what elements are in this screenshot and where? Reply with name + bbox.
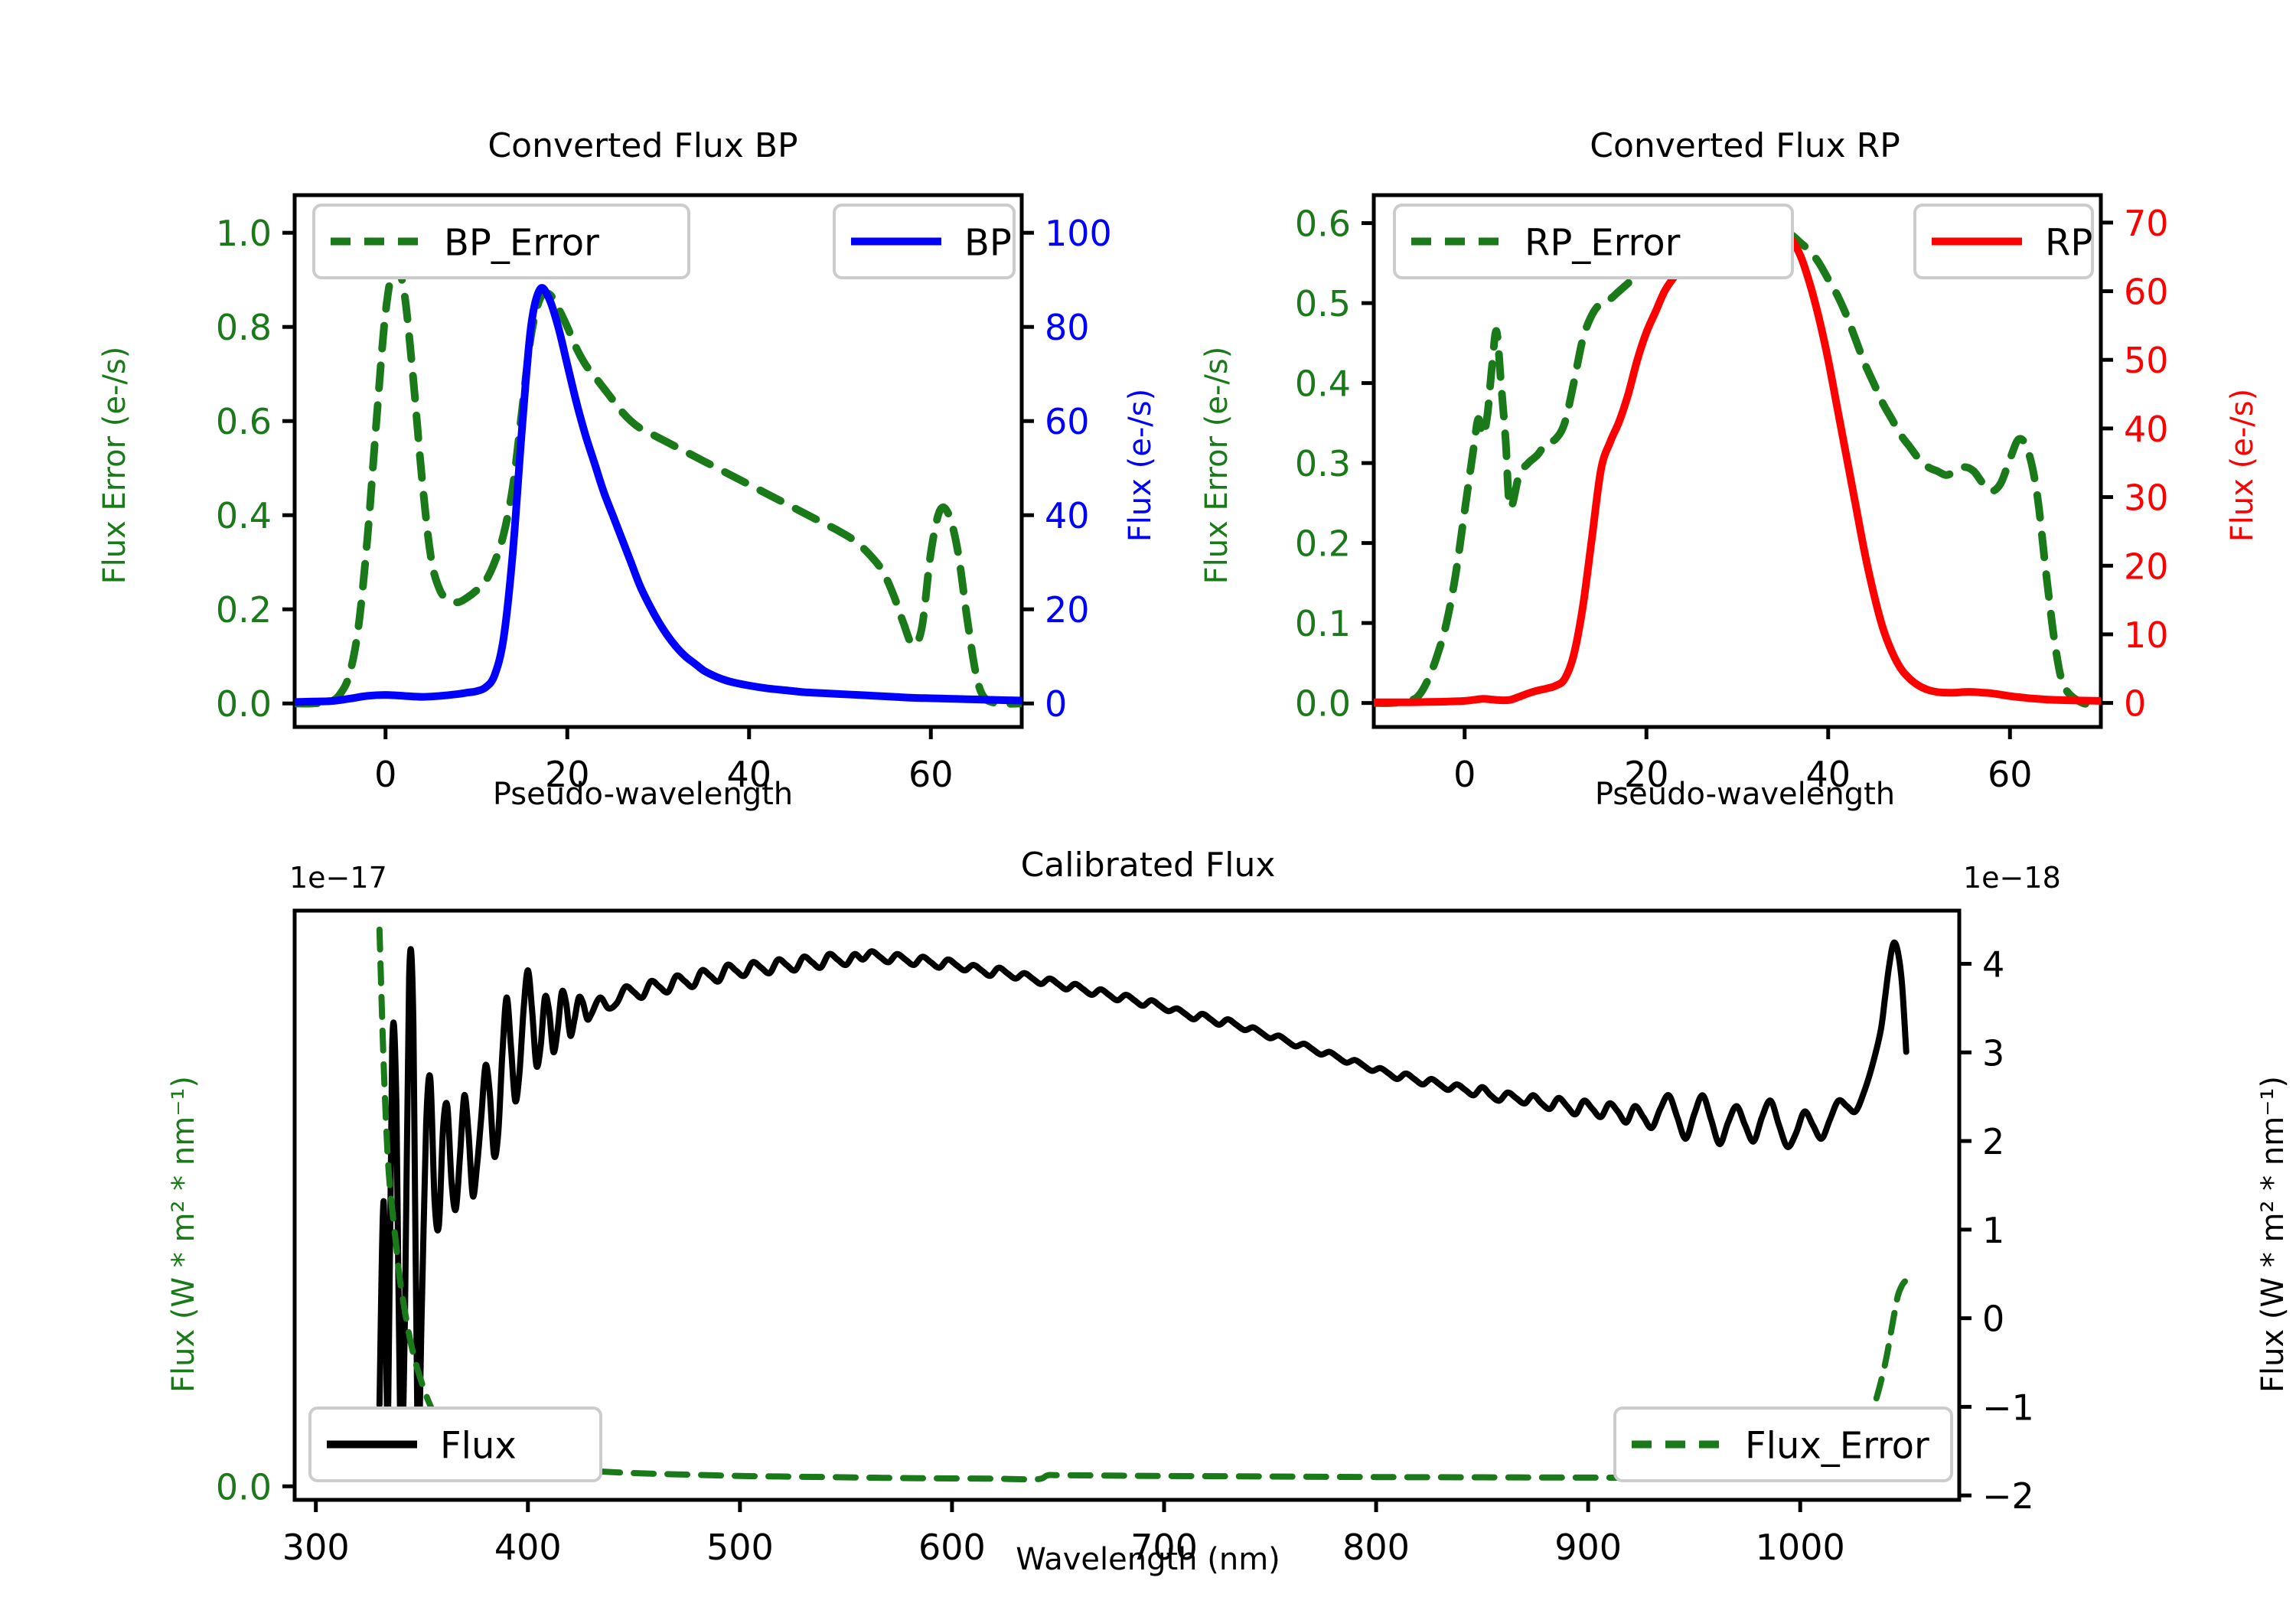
cal-legend-right[interactable]: Flux_Error bbox=[1615, 1408, 1952, 1481]
y-tick-label-right: 60 bbox=[2124, 272, 2169, 313]
y-tick-label-right: −2 bbox=[1982, 1475, 2034, 1517]
rp-legend-right[interactable]: RP bbox=[1915, 205, 2092, 278]
panel-rp-title: Converted Flux RP bbox=[1362, 126, 2128, 165]
panel-cal-ylabel-left: Flux (W * m² * nm⁻¹) bbox=[166, 966, 201, 1502]
panel-cal-yoffset-left: 1e−17 bbox=[289, 861, 387, 895]
y-tick-label-right: 1 bbox=[1982, 1210, 2004, 1251]
y-tick-label-left: 0.4 bbox=[216, 495, 272, 536]
bp-legend-right[interactable]: BP bbox=[834, 205, 1014, 278]
y-tick-label-left: 0.0 bbox=[1295, 683, 1351, 725]
bp-legend-left[interactable]: BP_Error bbox=[314, 205, 689, 278]
y-tick-label-left: 0.2 bbox=[1295, 523, 1351, 565]
series-line-flux_error bbox=[380, 930, 1906, 1479]
y-tick-label-left: 0.6 bbox=[216, 401, 272, 442]
y-tick-label-right: 80 bbox=[1045, 307, 1090, 348]
panel-cal-title: Calibrated Flux bbox=[643, 846, 1653, 885]
y-tick-label-left: 0.1 bbox=[1295, 603, 1351, 644]
y-tick-label-right: 50 bbox=[2124, 340, 2169, 381]
y-tick-label-right: 4 bbox=[1982, 944, 2004, 985]
panel-converted-flux-bp: Converted Flux BP Flux Error (e-/s) Flux… bbox=[0, 0, 1148, 826]
panel-bp-plot-area: 02040600.00.20.40.60.81.0020406080100BP_… bbox=[0, 0, 1148, 826]
panel-rp-plot-area: 02040600.00.10.20.30.40.50.6010203040506… bbox=[1110, 0, 2296, 826]
panel-converted-flux-rp: Converted Flux RP Flux Error (e-/s) Flux… bbox=[1110, 0, 2296, 826]
panel-bp-title: Converted Flux BP bbox=[260, 126, 1026, 165]
series-line-flux bbox=[380, 943, 1906, 1472]
series-line-rp bbox=[1374, 224, 2101, 702]
y-tick-label-right: 3 bbox=[1982, 1032, 2004, 1074]
y-tick-label-right: 0 bbox=[1045, 683, 1067, 725]
y-tick-label-right: 40 bbox=[1045, 495, 1090, 536]
y-tick-label-left: 0.6 bbox=[1295, 204, 1351, 245]
series-line-rp_error bbox=[1374, 223, 2101, 705]
y-tick-label-left: 0.0 bbox=[216, 683, 272, 725]
rp-legend-left-label: RP_Error bbox=[1525, 222, 1681, 265]
y-tick-label-right: 60 bbox=[1045, 401, 1090, 442]
x-tick-label: 300 bbox=[282, 1527, 350, 1568]
series-line-bp_error bbox=[295, 265, 1022, 704]
rp-legend-left[interactable]: RP_Error bbox=[1394, 205, 1792, 278]
y-tick-label-right: 100 bbox=[1045, 213, 1112, 254]
y-tick-label-right: 20 bbox=[1045, 589, 1090, 631]
y-tick-label-right: 40 bbox=[2124, 409, 2169, 450]
panel-bp-ylabel-left: Flux Error (e-/s) bbox=[97, 236, 132, 695]
cal-legend-left-label: Flux bbox=[440, 1425, 517, 1468]
y-tick-label-left: 0.5 bbox=[1295, 283, 1351, 324]
y-tick-label-right: 30 bbox=[2124, 478, 2169, 519]
panel-cal-plot-area: 30040050060070080090010000.00.51.01.52.0… bbox=[0, 811, 2296, 1607]
rp-legend-right-label: RP bbox=[2045, 222, 2092, 265]
cal-legend-left[interactable]: Flux bbox=[310, 1408, 601, 1481]
y-tick-label-right: 0 bbox=[2124, 683, 2146, 725]
panel-rp-ylabel-left: Flux Error (e-/s) bbox=[1199, 236, 1234, 695]
y-tick-label-right: 70 bbox=[2124, 203, 2169, 244]
panel-calibrated-flux: Calibrated Flux 1e−17 1e−18 Flux (W * m²… bbox=[0, 811, 2296, 1607]
y-tick-label-left: 1.0 bbox=[216, 213, 272, 254]
y-tick-label-left: 0.3 bbox=[1295, 443, 1351, 484]
panel-rp-ylabel-right: Flux (e-/s) bbox=[2225, 236, 2260, 695]
panel-bp-xlabel: Pseudo-wavelength bbox=[260, 777, 1026, 812]
y-tick-label-right: 0 bbox=[1982, 1299, 2004, 1340]
y-tick-label-left: 0.4 bbox=[1295, 363, 1351, 405]
panel-cal-xlabel: Wavelength (nm) bbox=[643, 1542, 1653, 1577]
y-tick-label-right: 20 bbox=[2124, 546, 2169, 587]
y-tick-label-left: 0.0 bbox=[216, 1466, 272, 1508]
y-tick-label-left: 0.2 bbox=[216, 589, 272, 631]
x-tick-label: 400 bbox=[494, 1527, 562, 1568]
matplotlib-figure: Converted Flux BP Flux Error (e-/s) Flux… bbox=[0, 0, 2296, 1607]
bp-legend-right-label: BP bbox=[964, 222, 1012, 265]
y-tick-label-left: 0.8 bbox=[216, 307, 272, 348]
panel-cal-ylabel-right: Flux (W * m² * nm⁻¹) bbox=[2255, 966, 2291, 1502]
y-tick-label-right: 10 bbox=[2124, 614, 2169, 656]
x-tick-label: 1000 bbox=[1756, 1527, 1845, 1568]
panel-cal-yoffset-right: 1e−18 bbox=[1963, 861, 2061, 895]
panel-rp-xlabel: Pseudo-wavelength bbox=[1362, 777, 2128, 812]
bp-legend-left-label: BP_Error bbox=[444, 222, 599, 265]
y-tick-label-right: 2 bbox=[1982, 1121, 2004, 1162]
y-tick-label-right: −1 bbox=[1982, 1387, 2034, 1428]
cal-legend-right-label: Flux_Error bbox=[1745, 1425, 1929, 1468]
